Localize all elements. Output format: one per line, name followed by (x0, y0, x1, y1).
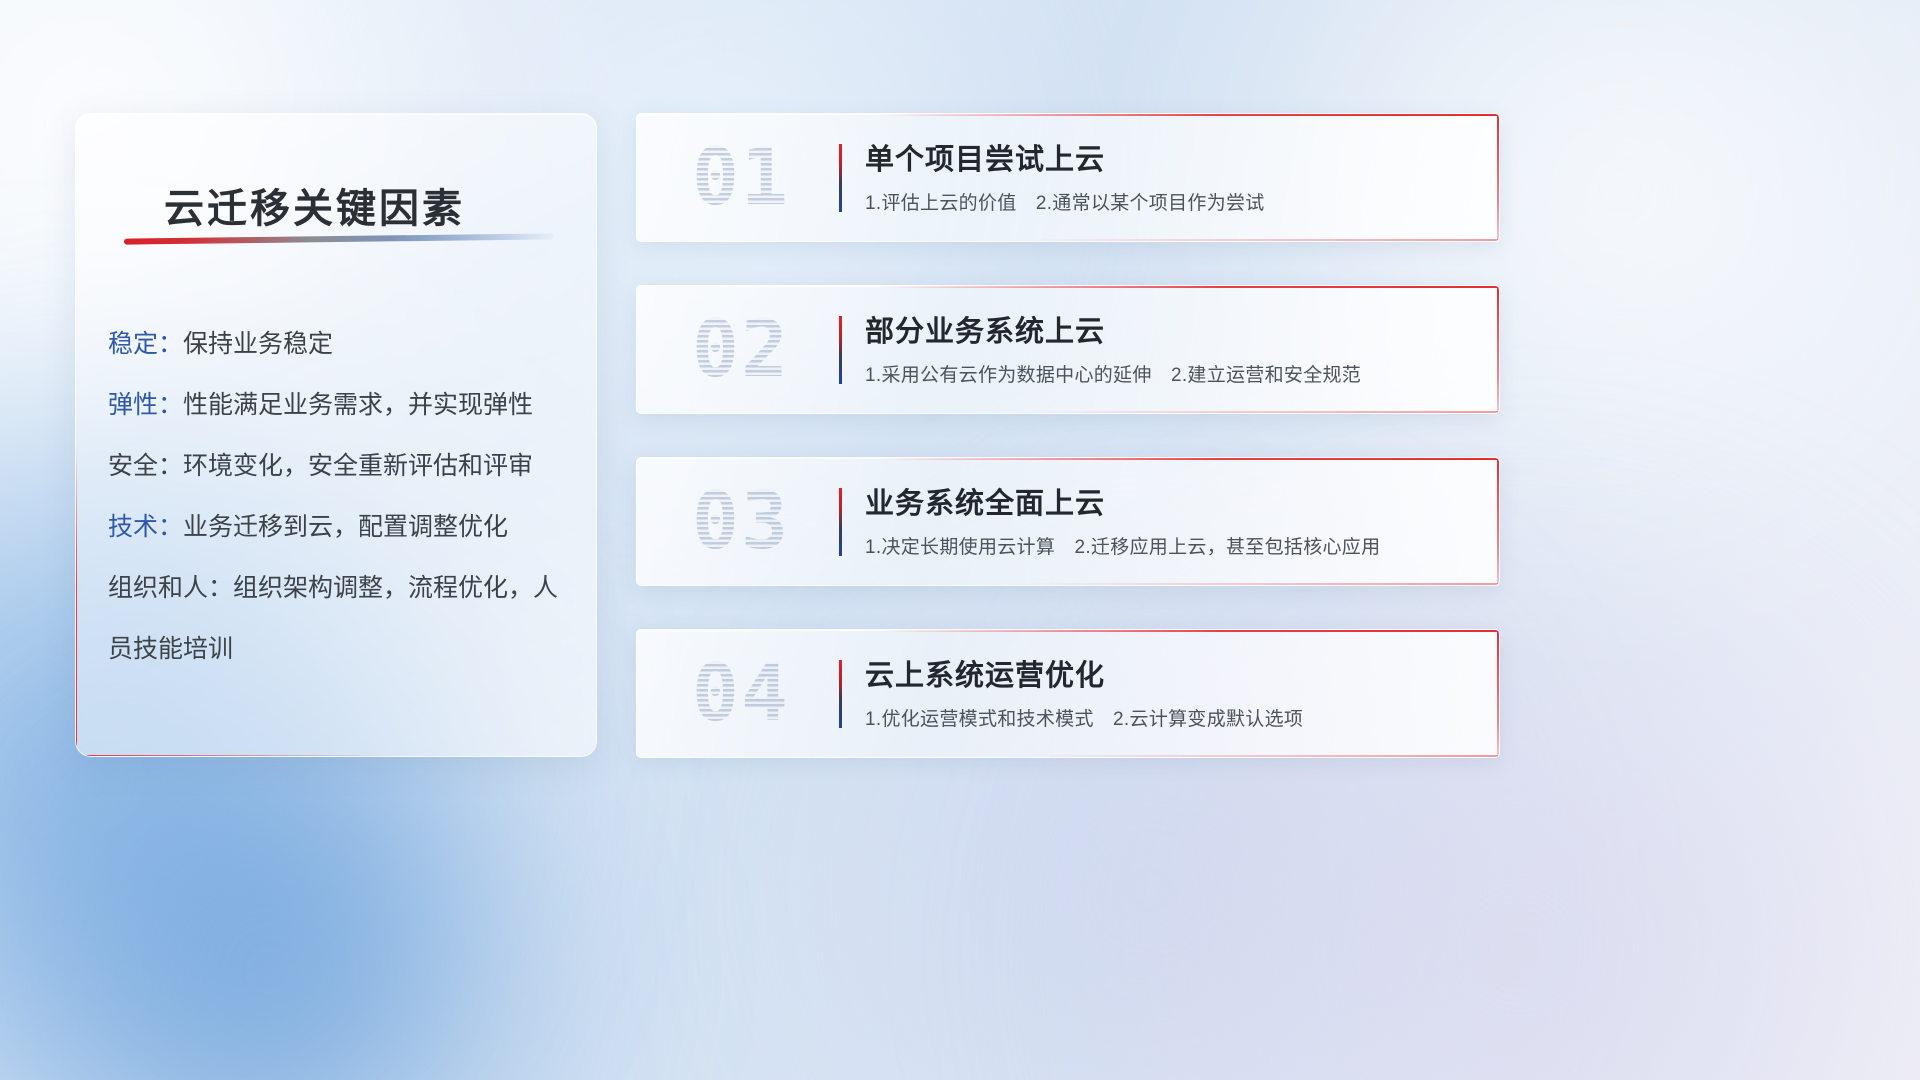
key-factors-list: 稳定：保持业务稳定 弹性：性能满足业务需求，并实现弹性 安全：环境变化，安全重新… (108, 314, 574, 680)
list-item-text: 性能满足业务需求，并实现弹性 (183, 391, 533, 419)
stage-divider (839, 488, 842, 556)
list-item-label: 安全： (108, 452, 183, 480)
card-top-accent (878, 458, 1499, 460)
card-bottom-accent (1025, 583, 1499, 585)
list-item: 弹性：性能满足业务需求，并实现弹性 (108, 375, 574, 436)
card-right-accent (1497, 114, 1499, 241)
list-item-label: 组织和人： (108, 574, 233, 602)
stage-number: 01 (661, 128, 821, 228)
stage-title: 部分业务系统上云 (865, 308, 1105, 350)
list-item-text: 业务迁移到云，配置调整优化 (183, 513, 508, 541)
card-bottom-accent (1025, 755, 1499, 757)
stage-divider (839, 144, 842, 212)
stage-number: 04 (661, 644, 821, 744)
card-bottom-accent (1025, 239, 1499, 241)
card-right-accent (1497, 630, 1499, 757)
stage-subtitle: 1.评估上云的价值 2.通常以某个项目作为尝试 (865, 188, 1265, 215)
card-right-accent (1497, 286, 1499, 413)
stage-card-01[interactable]: 01 单个项目尝试上云 1.评估上云的价值 2.通常以某个项目作为尝试 (636, 113, 1500, 242)
key-factors-panel: 云迁移关键因素 稳定：保持业务稳定 弹性：性能满足业务需求，并实现弹性 安全：环… (75, 113, 597, 757)
stage-title: 业务系统全面上云 (865, 480, 1105, 522)
panel-left-accent (75, 444, 77, 757)
list-item: 稳定：保持业务稳定 (108, 314, 574, 375)
card-bottom-accent (1025, 411, 1499, 413)
list-item: 技术：业务迁移到云，配置调整优化 (108, 497, 574, 558)
panel-bottom-accent (75, 755, 388, 757)
stage-card-03[interactable]: 03 业务系统全面上云 1.决定长期使用云计算 2.迁移应用上云，甚至包括核心应… (636, 457, 1500, 586)
card-top-accent (878, 286, 1499, 288)
list-item-label: 技术： (108, 513, 183, 541)
stage-divider (839, 316, 842, 384)
stage-card-04[interactable]: 04 云上系统运营优化 1.优化运营模式和技术模式 2.云计算变成默认选项 (636, 629, 1500, 758)
card-right-accent (1497, 458, 1499, 585)
card-top-accent (878, 630, 1499, 632)
stage-subtitle: 1.优化运营模式和技术模式 2.云计算变成默认选项 (865, 704, 1303, 731)
stage-number: 03 (661, 472, 821, 572)
stage-title: 单个项目尝试上云 (865, 136, 1105, 178)
title-underline-rule (124, 233, 554, 244)
stage-subtitle: 1.决定长期使用云计算 2.迁移应用上云，甚至包括核心应用 (865, 532, 1380, 559)
list-item-text: 环境变化，安全重新评估和评审 (183, 452, 533, 480)
card-top-accent (878, 114, 1499, 116)
stage-title: 云上系统运营优化 (865, 652, 1105, 694)
list-item: 组织和人：组织架构调整，流程优化，人员技能培训 (108, 558, 574, 680)
list-item-text: 保持业务稳定 (183, 330, 333, 358)
page-title: 云迁移关键因素 (164, 176, 465, 234)
stage-divider (839, 660, 842, 728)
stage-card-02[interactable]: 02 部分业务系统上云 1.采用公有云作为数据中心的延伸 2.建立运营和安全规范 (636, 285, 1500, 414)
list-item-label: 稳定： (108, 330, 183, 358)
stage-number: 02 (661, 300, 821, 400)
stage-subtitle: 1.采用公有云作为数据中心的延伸 2.建立运营和安全规范 (865, 360, 1361, 387)
list-item: 安全：环境变化，安全重新评估和评审 (108, 436, 574, 497)
list-item-label: 弹性： (108, 391, 183, 419)
